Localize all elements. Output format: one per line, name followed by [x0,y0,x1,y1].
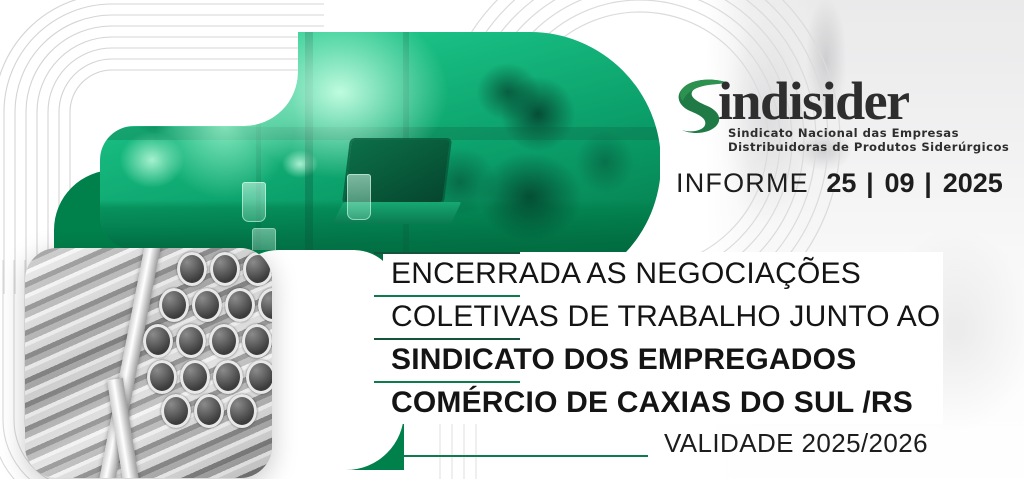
logo-subtitle-line2: Distribuidoras de Produtos Siderúrgicos [728,140,1009,154]
bottom-white-strip [0,479,1024,501]
headline-line-2: COLETIVAS DE TRABALHO JUNTO AO [383,295,943,338]
validity-text: VALIDADE 2025/2026 [664,428,928,459]
pipe-ends-cluster-small [37,382,157,474]
headline-rule [374,381,520,383]
headline-line-3: SINDICATO DOS EMPREGADOS [383,338,943,381]
headline-line-2-text: COLETIVAS DE TRABALHO JUNTO AO [391,302,940,332]
headline-line-1: ENCERRADA AS NEGOCIAÇÕES [383,252,943,295]
sindisider-logo[interactable]: indisider Sindicato Nacional das Empresa… [676,76,938,158]
informe-date-row: INFORME 25 | 09 | 2025 [676,168,1003,199]
informe-month: 09 [885,168,915,198]
headline-rule [374,252,520,254]
headline-line-1-text: ENCERRADA AS NEGOCIAÇÕES [391,259,861,289]
headline-line-3-text: SINDICATO DOS EMPREGADOS [391,345,856,375]
steel-pipes-photo [25,248,272,478]
headline-line-4: COMÉRCIO DE CAXIAS DO SUL /RS [383,381,943,424]
headline-rule [374,338,520,340]
headline-line-4-text: COMÉRCIO DE CAXIAS DO SUL /RS [391,388,913,418]
glass-object [347,174,371,220]
informe-label: INFORME [676,168,809,198]
informe-year: 2025 [943,168,1003,198]
headline-block: ENCERRADA AS NEGOCIAÇÕES COLETIVAS DE TR… [383,252,983,424]
glass-object [242,182,266,222]
validity-rule [398,455,648,457]
informe-banner: indisider Sindicato Nacional das Empresa… [0,0,1024,501]
logo-subtitle-line1: Sindicato Nacional das Empresas [728,126,959,140]
logo-wordmark-text: indisider [718,71,909,131]
logo-wordmark: indisider [718,74,909,128]
headline-rule [374,295,520,297]
date-separator: | [866,168,875,198]
informe-day: 25 [826,168,856,198]
pipe-ends-cluster [143,252,272,428]
date-separator: | [924,168,933,198]
